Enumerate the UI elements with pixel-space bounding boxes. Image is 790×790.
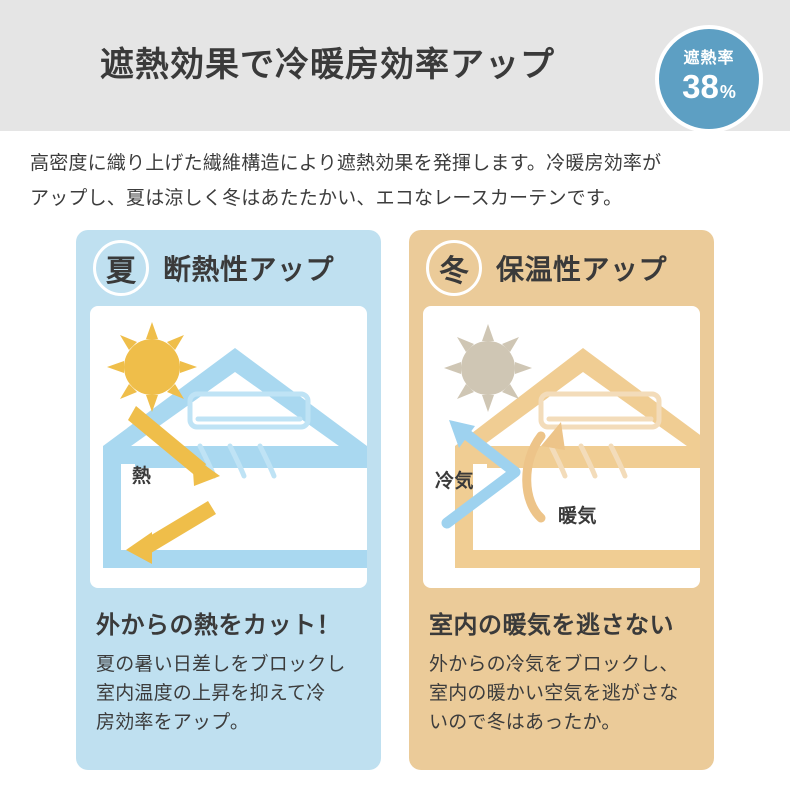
lead-line-1: 高密度に織り上げた繊維構造により遮熱効果を発揮します。冷暖房効率が <box>30 146 760 181</box>
page-title: 遮熱効果で冷暖房効率アップ <box>0 40 655 90</box>
panel-summer-title: 断熱性アップ <box>163 248 334 288</box>
summer-body-line-1: 夏の暑い日差しをブロックし <box>96 650 363 679</box>
caption-cold-air: 冷気 <box>435 466 474 493</box>
summer-body-heading: 外からの熱をカット！ <box>96 610 363 642</box>
panel-summer-body: 外からの熱をカット！ 夏の暑い日差しをブロックし 室内温度の上昇を抑えて冷 房効… <box>76 588 381 737</box>
winter-diagram <box>423 306 700 588</box>
panel-winter-title: 保温性アップ <box>496 248 667 288</box>
badge-value: 38 % <box>682 70 736 109</box>
caption-heat: 熱 <box>132 461 152 488</box>
winter-body-line-1: 外からの冷気をブロックし、 <box>429 650 696 679</box>
caption-warm-air: 暖気 <box>558 501 597 528</box>
badge-number: 38 <box>682 70 719 104</box>
season-mark-summer: 夏 <box>93 240 149 296</box>
winter-body-text: 外からの冷気をブロックし、 室内の暖かい空気を逃がさな いので冬はあったか。 <box>429 650 696 737</box>
panel-summer-header: 夏 断熱性アップ <box>76 230 381 306</box>
panel-winter: 冬 保温性アップ <box>409 230 714 770</box>
summer-body-line-2: 室内温度の上昇を抑えて冷 <box>96 679 363 708</box>
panel-winter-body: 室内の暖気を逃さない 外からの冷気をブロックし、 室内の暖かい空気を逃がさな い… <box>409 588 714 737</box>
season-mark-winter: 冬 <box>426 240 482 296</box>
winter-body-line-3: いので冬はあったか。 <box>429 708 696 737</box>
illustration-winter: 冷気 暖気 <box>423 306 700 588</box>
badge-unit: % <box>720 75 736 109</box>
illustration-summer: 熱 <box>90 306 367 588</box>
winter-body-heading: 室内の暖気を逃さない <box>429 610 696 642</box>
winter-body-line-2: 室内の暖かい空気を逃がさな <box>429 679 696 708</box>
summer-body-line-3: 房効率をアップ。 <box>96 708 363 737</box>
status-badge: 遮熱率 38 % <box>655 25 763 133</box>
lead-line-2: アップし、夏は涼しく冬はあたたかい、エコなレースカーテンです。 <box>30 181 760 216</box>
badge-label: 遮熱率 <box>683 49 734 69</box>
infographic-page: 遮熱効果で冷暖房効率アップ 遮熱率 38 % 高密度に織り上げた繊維構造により遮… <box>0 0 790 790</box>
sun-icon <box>444 324 532 412</box>
summer-body-text: 夏の暑い日差しをブロックし 室内温度の上昇を抑えて冷 房効率をアップ。 <box>96 650 363 737</box>
summer-diagram <box>90 306 367 588</box>
panel-winter-header: 冬 保温性アップ <box>409 230 714 306</box>
lead-paragraph: 高密度に織り上げた繊維構造により遮熱効果を発揮します。冷暖房効率が アップし、夏… <box>30 146 760 216</box>
panel-summer: 夏 断熱性アップ <box>76 230 381 770</box>
sun-icon <box>107 322 197 412</box>
